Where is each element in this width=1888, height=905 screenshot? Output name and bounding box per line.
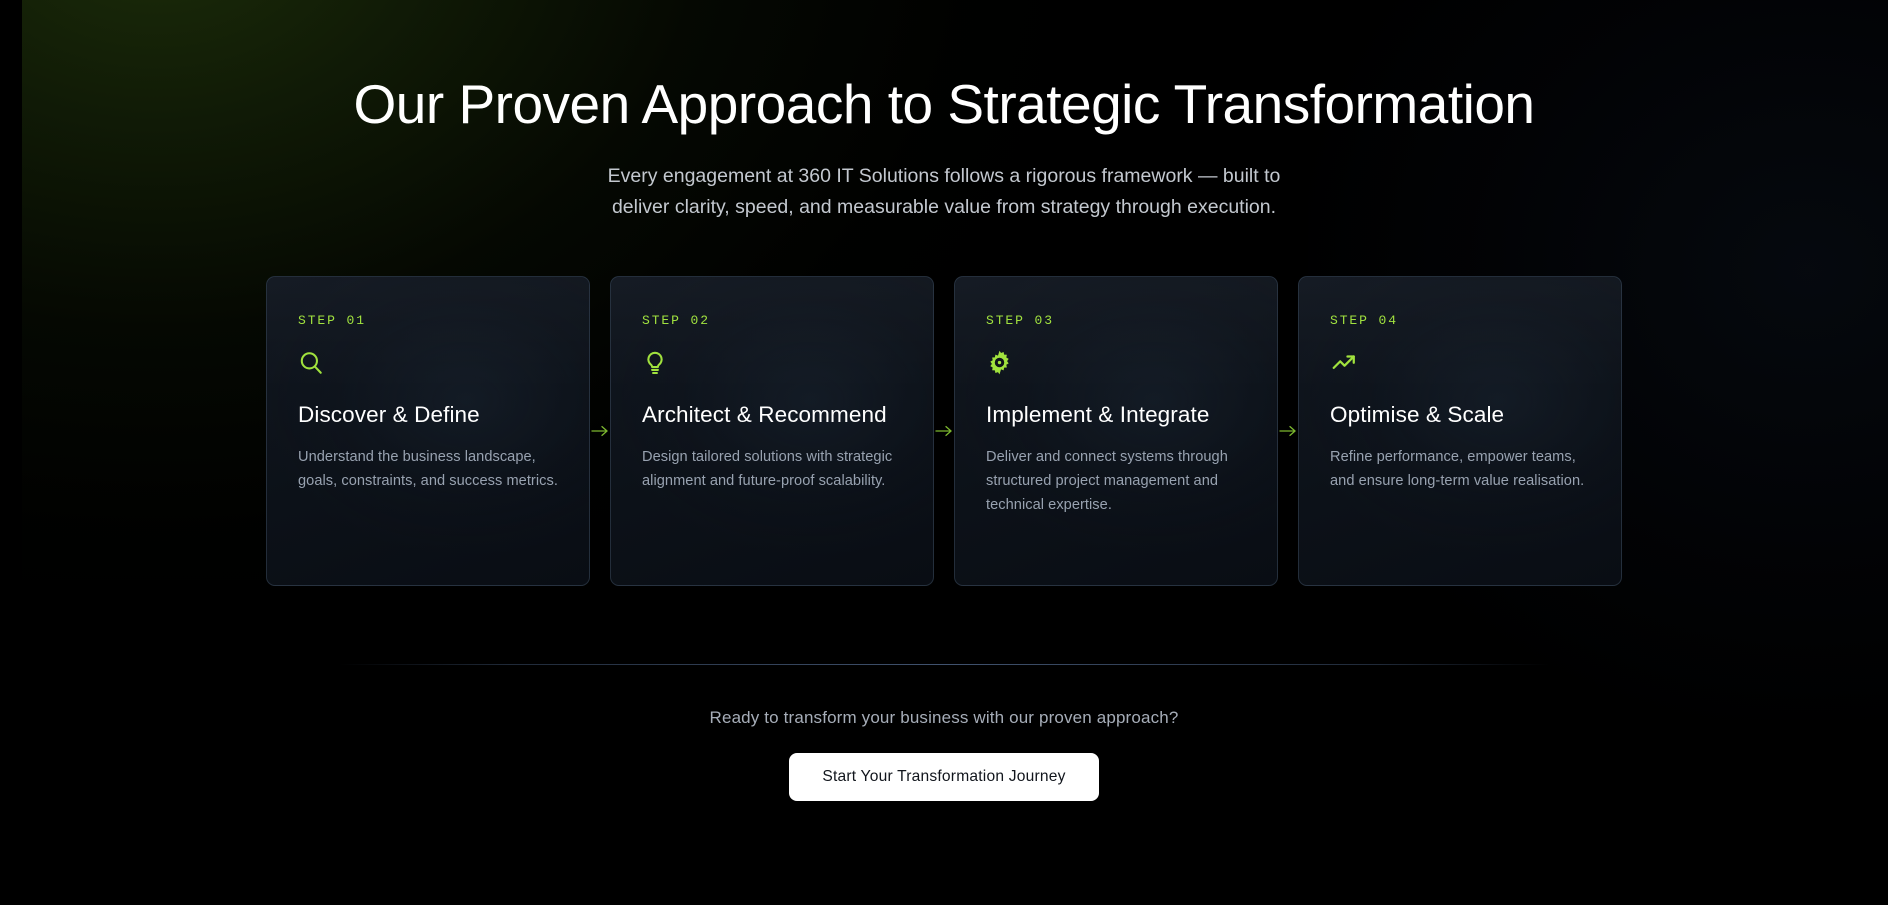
step-label: STEP 04 xyxy=(1330,313,1590,328)
gear-icon xyxy=(986,347,1246,379)
section-header: Our Proven Approach to Strategic Transfo… xyxy=(0,0,1888,224)
magnifying-glass-icon xyxy=(298,347,558,379)
arrow-right-icon xyxy=(590,276,610,586)
steps-row: STEP 01 Discover & Define Understand the… xyxy=(269,276,1619,586)
step-description: Refine performance, empower teams, and e… xyxy=(1330,446,1590,494)
step-description: Design tailored solutions with strategic… xyxy=(642,446,902,494)
cta-prompt: Ready to transform your business with ou… xyxy=(0,708,1888,728)
step-title: Implement & Integrate xyxy=(986,401,1246,430)
page-subtitle: Every engagement at 360 IT Solutions fol… xyxy=(0,161,1888,224)
approach-section: Our Proven Approach to Strategic Transfo… xyxy=(0,0,1888,905)
step-title: Optimise & Scale xyxy=(1330,401,1590,430)
start-transformation-journey-button[interactable]: Start Your Transformation Journey xyxy=(789,753,1098,801)
step-card-discover-define[interactable]: STEP 01 Discover & Define Understand the… xyxy=(266,276,590,586)
step-title: Architect & Recommend xyxy=(642,401,902,430)
step-title: Discover & Define xyxy=(298,401,558,430)
arrow-right-icon xyxy=(934,276,954,586)
section-divider xyxy=(339,664,1549,665)
step-card-implement-integrate[interactable]: STEP 03 Implement & Integrate Deliver an… xyxy=(954,276,1278,586)
step-label: STEP 02 xyxy=(642,313,902,328)
arrow-right-icon xyxy=(1278,276,1298,586)
page-subtitle-line-2: deliver clarity, speed, and measurable v… xyxy=(612,196,1276,218)
lightbulb-icon xyxy=(642,347,902,379)
step-label: STEP 03 xyxy=(986,313,1246,328)
page-title: Our Proven Approach to Strategic Transfo… xyxy=(0,74,1888,135)
cta-section: Ready to transform your business with ou… xyxy=(0,708,1888,801)
step-label: STEP 01 xyxy=(298,313,558,328)
step-description: Deliver and connect systems through stru… xyxy=(986,446,1246,517)
page-subtitle-line-1: Every engagement at 360 IT Solutions fol… xyxy=(608,165,1281,187)
step-card-architect-recommend[interactable]: STEP 02 Architect & Recommend Design tai… xyxy=(610,276,934,586)
step-description: Understand the business landscape, goals… xyxy=(298,446,558,494)
step-card-optimise-scale[interactable]: STEP 04 Optimise & Scale Refine performa… xyxy=(1298,276,1622,586)
trending-up-icon xyxy=(1330,347,1590,379)
